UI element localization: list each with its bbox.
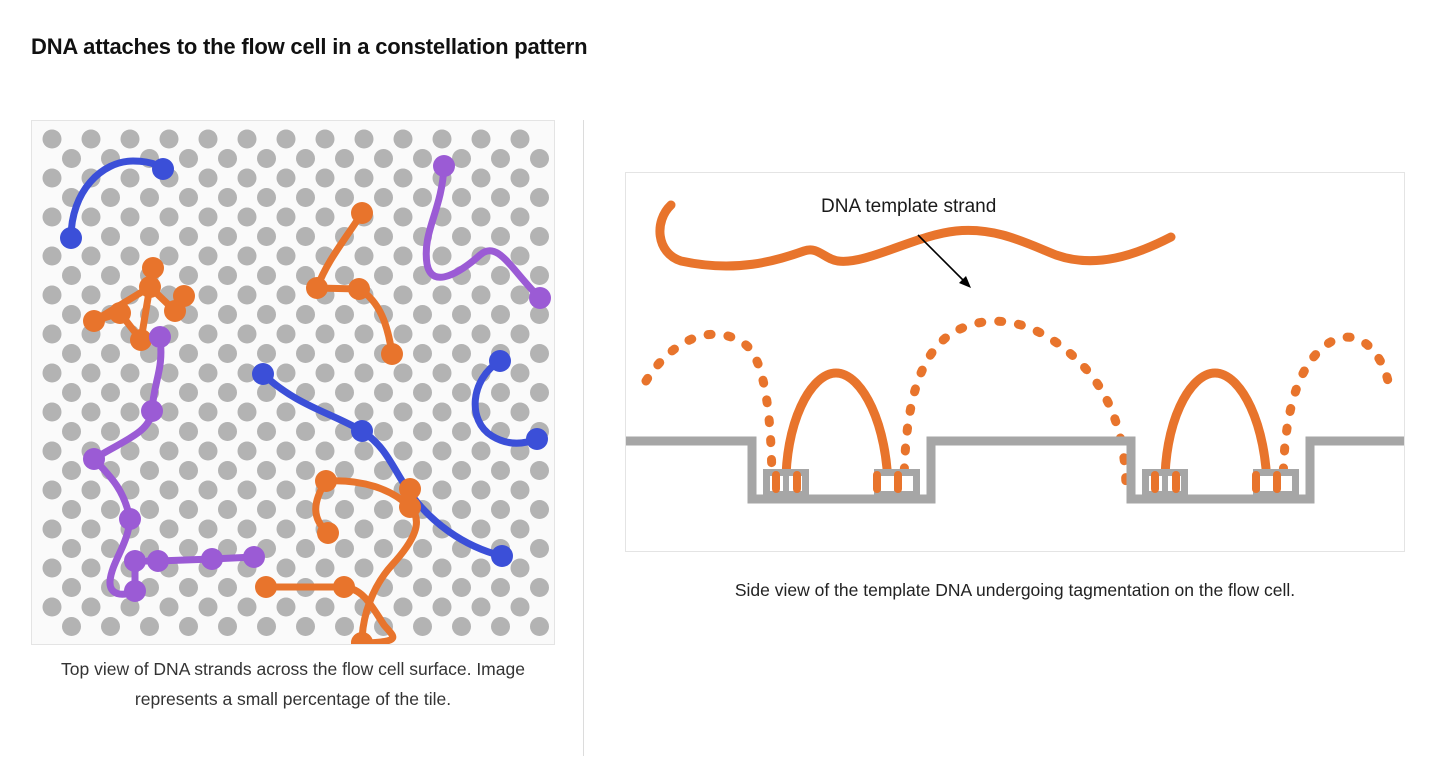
- side-view-canvas: [626, 173, 1404, 551]
- dashed-strand-dashed-arc-center: [904, 321, 1126, 491]
- top-view-caption: Top view of DNA strands across the flow …: [26, 654, 560, 714]
- panel-divider: [583, 120, 584, 756]
- page-title: DNA attaches to the flow cell in a const…: [31, 34, 587, 60]
- top-view-figure: [31, 120, 555, 645]
- side-view-figure: DNA template strand: [625, 172, 1405, 552]
- side-view-caption: Side view of the template DNA undergoing…: [625, 575, 1405, 605]
- dashed-strand-dashed-arc-far-right: [1283, 337, 1388, 491]
- dna-template-strand-label: DNA template strand: [821, 196, 1241, 218]
- anchor-pad-pad-3: [1142, 469, 1188, 495]
- side-view-panel: DNA template strand: [625, 172, 1405, 552]
- top-view-canvas: [32, 121, 554, 644]
- anchor-pad-pad-1: [763, 469, 809, 495]
- annotation-arrow: [918, 235, 971, 288]
- top-view-panel: Top view of DNA strands across the flow …: [31, 120, 555, 645]
- strand-anchor-tips: [776, 475, 1277, 489]
